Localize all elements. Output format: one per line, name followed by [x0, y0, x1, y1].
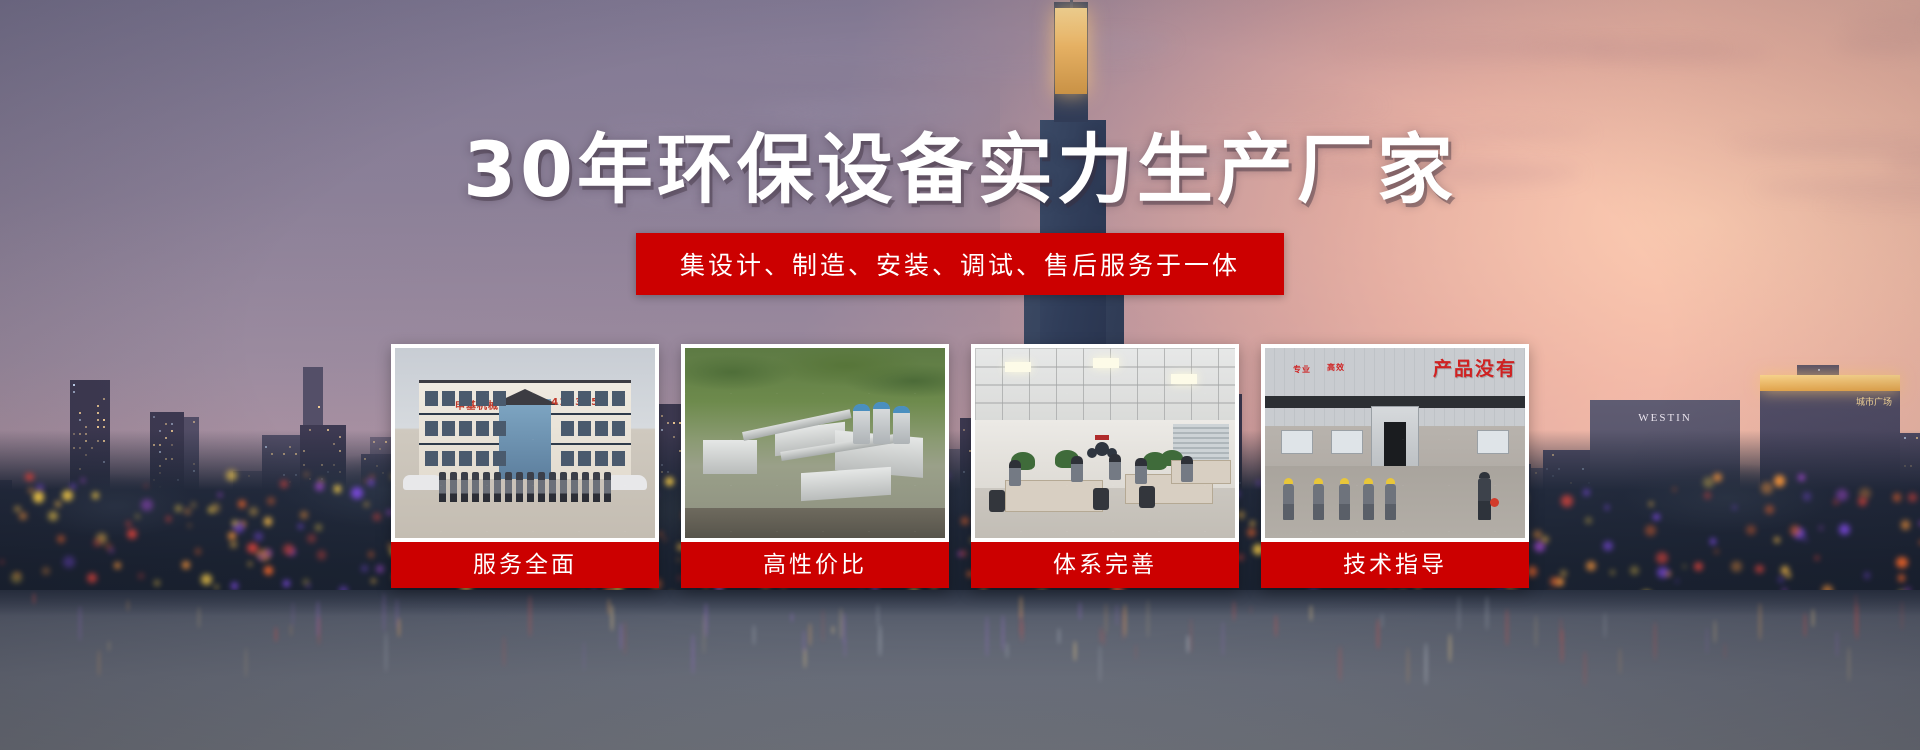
shoreline-edge: [0, 590, 1920, 616]
card-label: 高性价比: [681, 542, 949, 588]
hero-banner: WESTIN 城市广场 30年环保设备实力生产厂家 集设计、制造、安装、调试、售…: [0, 0, 1920, 750]
feature-card-list: 申基机械 4113456 服务全面: [391, 344, 1529, 588]
card-thumbnail-industrial-plant: [685, 348, 945, 538]
plaza-crown-light: [1760, 375, 1900, 391]
plaza-sign: 城市广场: [1856, 395, 1892, 408]
river-water: [0, 590, 1920, 750]
image-watermark: [1265, 348, 1525, 538]
westin-sign: WESTIN: [1638, 412, 1692, 424]
card-label: 服务全面: [391, 542, 659, 588]
image-watermark: [685, 348, 945, 538]
subtitle-badge: 集设计、制造、安装、调试、售后服务于一体: [636, 233, 1284, 295]
tower-crown-light: [1055, 8, 1087, 94]
page-title: 30年环保设备实力生产厂家: [0, 108, 1920, 218]
feature-card[interactable]: 申基机械 4113456 服务全面: [391, 344, 659, 588]
feature-card[interactable]: 高性价比: [681, 344, 949, 588]
image-watermark: [395, 348, 655, 538]
feature-card[interactable]: 体系完善: [971, 344, 1239, 588]
image-watermark: [975, 348, 1235, 538]
card-label: 技术指导: [1261, 542, 1529, 588]
feature-card[interactable]: 产品没有 专业 高效 技术指导: [1261, 344, 1529, 588]
card-thumbnail-office-interior: [975, 348, 1235, 538]
card-thumbnail-office-building: 申基机械 4113456: [395, 348, 655, 538]
card-label: 体系完善: [971, 542, 1239, 588]
card-thumbnail-factory-workers: 产品没有 专业 高效: [1265, 348, 1525, 538]
